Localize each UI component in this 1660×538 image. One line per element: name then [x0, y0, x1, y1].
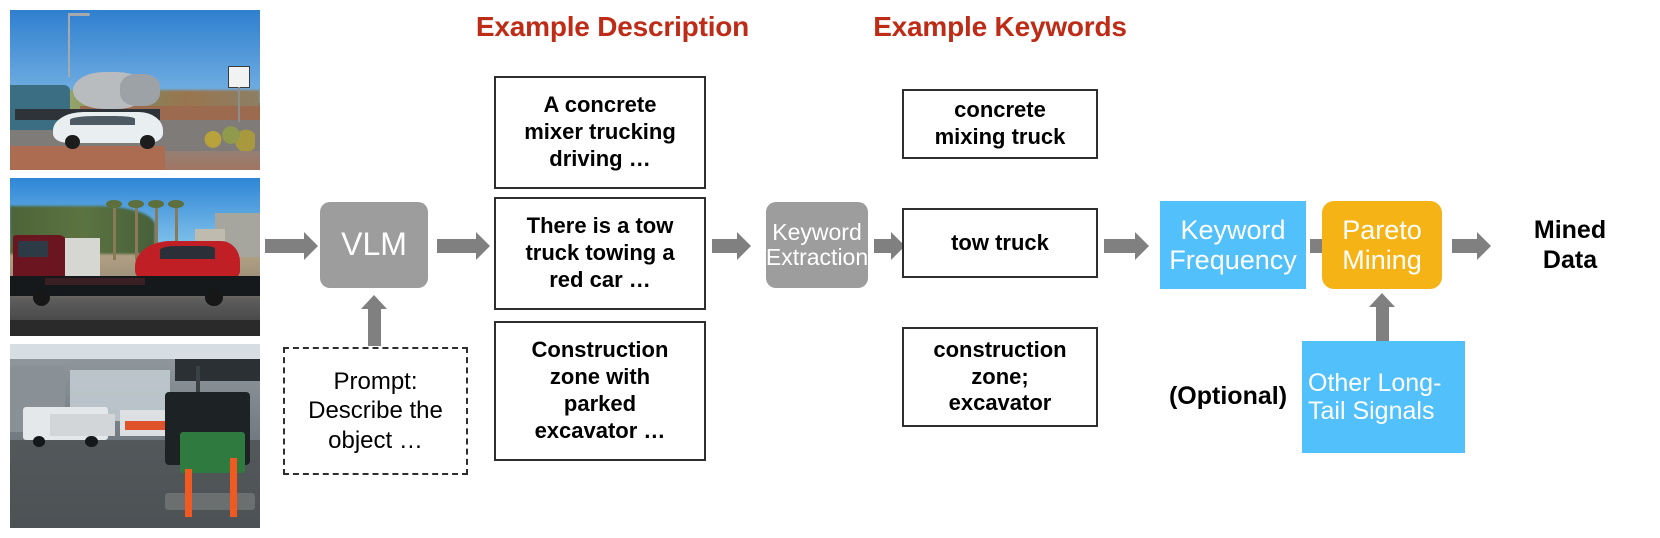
pipeline-diagram: Example Description Example Keywords	[0, 0, 1660, 538]
arrow-extraction-to-keywords	[874, 239, 892, 253]
pareto-mining-line-2: Mining	[1342, 245, 1422, 275]
arrow-prompt-to-vlm	[368, 308, 381, 346]
keyword-box-2: tow truck	[902, 208, 1098, 278]
section-header-example-description: Example Description	[440, 11, 785, 43]
section-header-example-keywords: Example Keywords	[840, 11, 1160, 43]
description-3-line-4: excavator …	[532, 418, 669, 445]
keyword-frequency-line-1: Keyword	[1169, 215, 1297, 245]
description-1-line-1: A concrete	[524, 92, 676, 119]
keyword-box-1: concrete mixing truck	[902, 89, 1098, 159]
keyword-3-line-3: excavator	[933, 390, 1066, 417]
description-2-line-1: There is a tow	[525, 213, 674, 240]
mined-data-label: Mined Data	[1490, 216, 1650, 275]
arrow-pareto-to-mined-data	[1452, 239, 1478, 253]
pareto-mining-box: Pareto Mining	[1322, 201, 1442, 289]
vlm-label: VLM	[341, 227, 407, 262]
description-box-3: Construction zone with parked excavator …	[494, 321, 706, 461]
arrow-keywords-to-frequency	[1104, 239, 1136, 253]
description-box-1: A concrete mixer trucking driving …	[494, 76, 706, 189]
optional-note: (Optional)	[1166, 382, 1290, 412]
keyword-extraction-box: Keyword Extraction	[766, 202, 868, 288]
keyword-3-line-2: zone;	[933, 364, 1066, 391]
keyword-extraction-line-2: Extraction	[766, 245, 868, 270]
prompt-label: Prompt: Describe the object …	[285, 367, 466, 455]
arrow-vlm-to-descriptions	[437, 239, 477, 253]
description-3-line-3: parked	[532, 391, 669, 418]
example-image-concrete-mixer	[10, 10, 260, 170]
description-2-line-2: truck towing a	[525, 240, 674, 267]
other-long-tail-signals-box: Other Long- Tail Signals	[1302, 341, 1465, 453]
description-2-line-3: red car …	[525, 267, 674, 294]
keyword-extraction-line-1: Keyword	[766, 220, 868, 245]
mined-data-line-1: Mined	[1490, 216, 1650, 246]
example-image-construction-zone	[10, 344, 260, 528]
keyword-2-line-1: tow truck	[951, 230, 1049, 257]
description-1-line-3: driving …	[524, 146, 676, 173]
description-box-2: There is a tow truck towing a red car …	[494, 197, 706, 310]
arrow-images-to-vlm	[265, 239, 305, 253]
keyword-1-line-1: concrete	[935, 97, 1066, 124]
keyword-3-line-1: construction	[933, 337, 1066, 364]
description-1-line-2: mixer trucking	[524, 119, 676, 146]
description-3-line-1: Construction	[532, 337, 669, 364]
vlm-box: VLM	[320, 202, 428, 288]
keyword-frequency-line-2: Frequency	[1169, 245, 1297, 275]
pareto-mining-line-1: Pareto	[1342, 215, 1422, 245]
arrow-other-signals-to-pareto	[1376, 306, 1389, 342]
keyword-1-line-2: mixing truck	[935, 124, 1066, 151]
keyword-frequency-box: Keyword Frequency	[1160, 201, 1306, 289]
example-image-tow-truck	[10, 178, 260, 336]
description-3-line-2: zone with	[532, 364, 669, 391]
other-signals-line-1: Other Long-	[1308, 369, 1441, 397]
mined-data-line-2: Data	[1490, 246, 1650, 276]
prompt-box: Prompt: Describe the object …	[283, 347, 468, 475]
other-signals-line-2: Tail Signals	[1308, 397, 1441, 425]
keyword-box-3: construction zone; excavator	[902, 327, 1098, 427]
arrow-descriptions-to-extraction	[712, 239, 738, 253]
